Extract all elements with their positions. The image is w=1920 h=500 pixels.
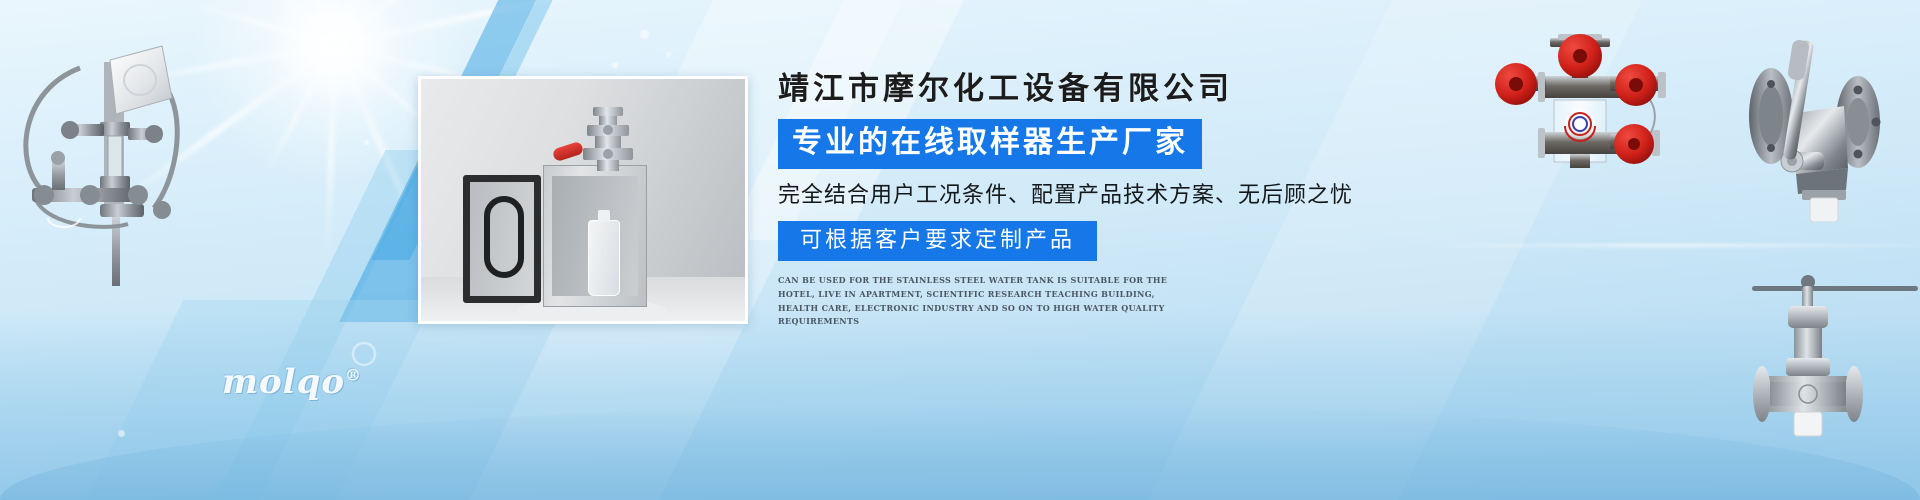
horizon-line [1420,244,1920,247]
product-image-cross-valve-assembly [1484,28,1714,168]
company-seal-icon [1565,109,1595,141]
bubble-icon [666,52,671,57]
bubble-icon [118,430,125,437]
watermark-logo: molqo® [222,362,362,402]
bubble-icon [364,140,369,145]
watermark-text: molqo [222,362,345,402]
company-name: 靖江市摩尔化工设备有限公司 [778,74,1398,105]
product-image-left-sampler [4,18,204,286]
cabinet-door [463,175,541,303]
sampling-valve-head [571,105,645,171]
promo-banner: 靖江市摩尔化工设备有限公司 专业的在线取样器生产厂家 完全结合用户工况条件、配置… [0,0,1920,500]
product-image-lever-valve [1706,22,1920,222]
english-caption: CAN BE USED FOR THE STAINLESS STEEL WATE… [778,274,1182,329]
bubble-icon [640,30,649,39]
headline-badge: 专业的在线取样器生产厂家 [778,119,1202,169]
handle-bar-icon [1752,275,1918,291]
banner-text-block: 靖江市摩尔化工设备有限公司 专业的在线取样器生产厂家 完全结合用户工况条件、配置… [778,74,1398,329]
tagline-badge: 可根据客户要求定制产品 [778,221,1097,261]
cabinet-body [543,165,647,307]
bubble-icon [612,62,618,68]
sample-bottle [588,220,620,296]
product-photo-sampling-cabinet [418,76,748,324]
subline-text: 完全结合用户工况条件、配置产品技术方案、无后顾之忧 [778,184,1398,206]
registered-mark-icon: ® [345,366,362,385]
cabinet-interior [552,176,638,296]
product-image-inline-flange-valve [1746,258,1920,444]
